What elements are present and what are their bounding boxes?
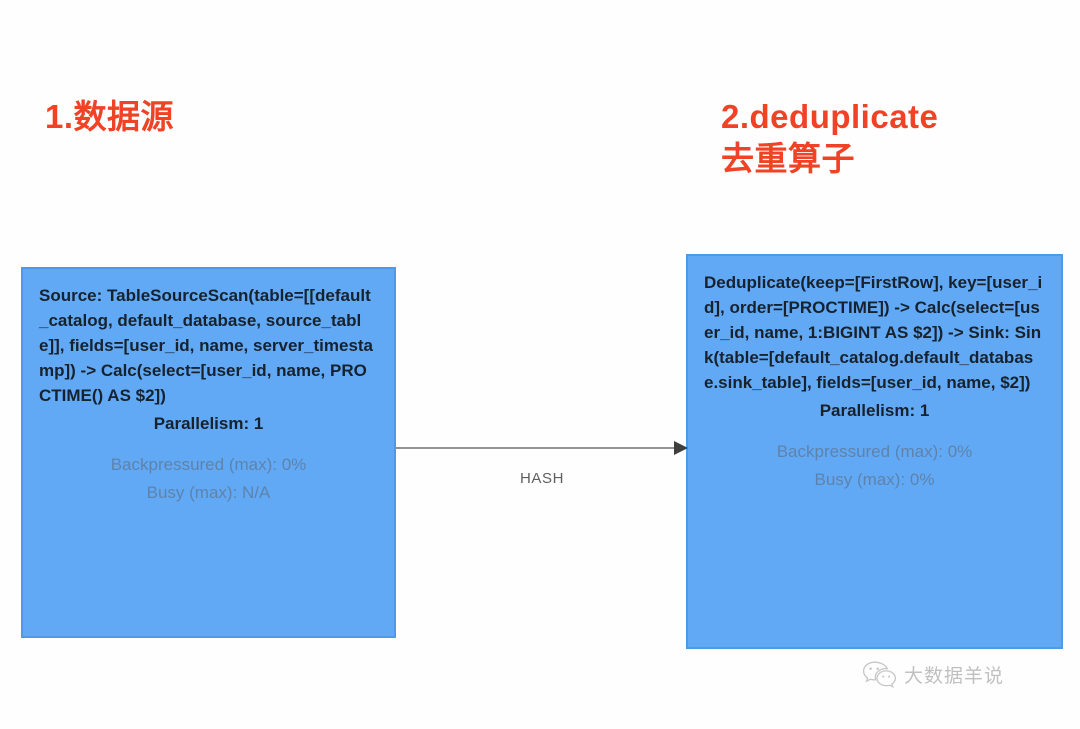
operator-parallelism: Parallelism: 1 (704, 398, 1045, 424)
operator-metrics: Backpressured (max): 0% Busy (max): N/A (39, 451, 378, 507)
operator-metrics: Backpressured (max): 0% Busy (max): 0% (704, 438, 1045, 494)
section-title-deduplicate: 2.deduplicate 去重算子 (721, 96, 938, 180)
operator-description: Deduplicate(keep=[FirstRow], key=[user_i… (704, 270, 1045, 395)
watermark: 大数据羊说 (862, 660, 1004, 688)
metric-backpressured: Backpressured (max): 0% (39, 451, 378, 479)
diagram-canvas: 1.数据源 2.deduplicate 去重算子 Source: TableSo… (0, 0, 1080, 729)
metric-busy: Busy (max): N/A (39, 479, 378, 507)
operator-node-source[interactable]: Source: TableSourceScan(table=[[default_… (21, 267, 396, 638)
edge-label: HASH (396, 470, 688, 487)
metric-backpressured: Backpressured (max): 0% (704, 438, 1045, 466)
operator-parallelism: Parallelism: 1 (39, 411, 378, 437)
edge-arrow-icon (396, 436, 688, 460)
wechat-icon (862, 660, 896, 688)
metric-busy: Busy (max): 0% (704, 466, 1045, 494)
section-title-source: 1.数据源 (45, 96, 174, 138)
operator-node-deduplicate[interactable]: Deduplicate(keep=[FirstRow], key=[user_i… (686, 254, 1063, 649)
operator-description: Source: TableSourceScan(table=[[default_… (39, 283, 378, 408)
watermark-text: 大数据羊说 (904, 661, 1004, 688)
